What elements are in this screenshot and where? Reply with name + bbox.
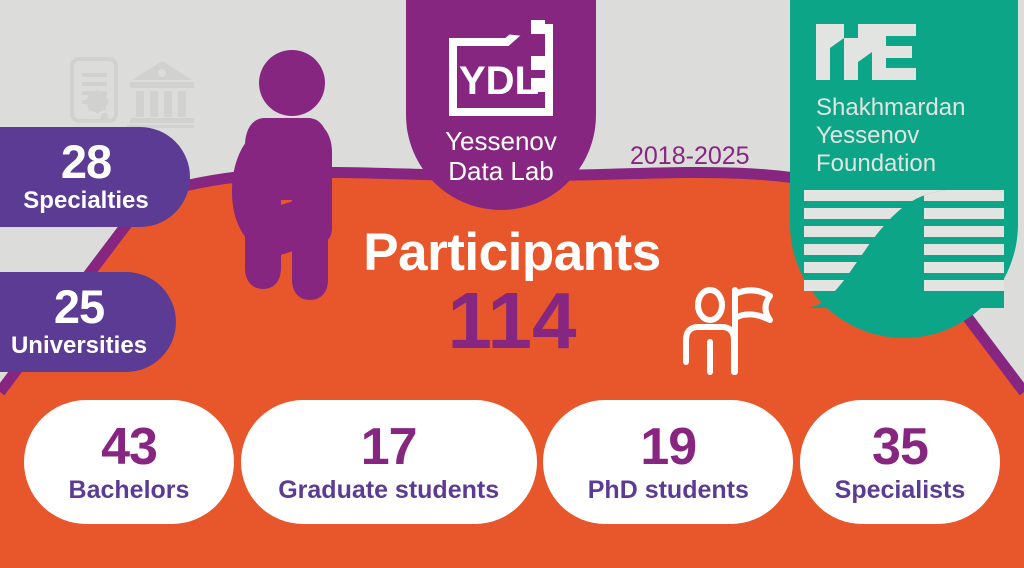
universities-label: Universities (11, 334, 147, 358)
graduate-students-label: Graduate students (278, 478, 499, 503)
stat-pill-phd-students: 19 PhD students (543, 400, 793, 524)
foundation-line-2: Yessenov (816, 122, 965, 150)
bachelors-label: Bachelors (69, 478, 190, 503)
foundation-line-3: Foundation (816, 150, 965, 178)
certificate-icon (72, 59, 116, 121)
ydl-logo-icon: YDL (447, 20, 555, 118)
specialties-value: 28 (61, 138, 111, 185)
universities-value: 25 (54, 283, 104, 330)
bachelors-value: 43 (101, 421, 157, 473)
specialists-label: Specialists (835, 478, 966, 503)
foundation-badge: Shakhmardan Yessenov Foundation (790, 0, 1018, 338)
ydl-badge-text: Yessenov Data Lab (406, 126, 596, 186)
ydl-line-1: Yessenov (406, 126, 596, 156)
infographic-poster: YDL Yessenov Data Lab Shakhmardan Yessen… (0, 0, 1024, 568)
phd-students-label: PhD students (588, 478, 749, 503)
graduate-students-value: 17 (361, 421, 417, 473)
stat-pill-specialties: 28 Specialties (0, 127, 190, 227)
foundation-stripes-graphic (804, 188, 1004, 308)
phd-students-value: 19 (640, 421, 696, 473)
yessenov-monogram-icon (816, 24, 920, 80)
bottom-stats-row: 43 Bachelors 17 Graduate students 19 PhD… (24, 400, 1000, 524)
ydl-line-2: Data Lab (406, 156, 596, 186)
stat-pill-specialists: 35 Specialists (800, 400, 1000, 524)
ydl-badge: YDL Yessenov Data Lab (406, 0, 596, 210)
stat-pill-universities: 25 Universities (0, 272, 176, 372)
specialties-label: Specialties (23, 189, 148, 213)
ydl-logo-text: YDL (459, 59, 539, 103)
specialists-value: 35 (872, 421, 928, 473)
foundation-line-1: Shakhmardan (816, 94, 965, 122)
university-building-icon (127, 61, 194, 128)
stat-pill-bachelors: 43 Bachelors (24, 400, 234, 524)
foundation-badge-text: Shakhmardan Yessenov Foundation (816, 94, 965, 178)
stat-pill-graduate-students: 17 Graduate students (241, 400, 537, 524)
decorative-icons (68, 56, 194, 128)
years-range-label: 2018-2025 (630, 142, 750, 171)
